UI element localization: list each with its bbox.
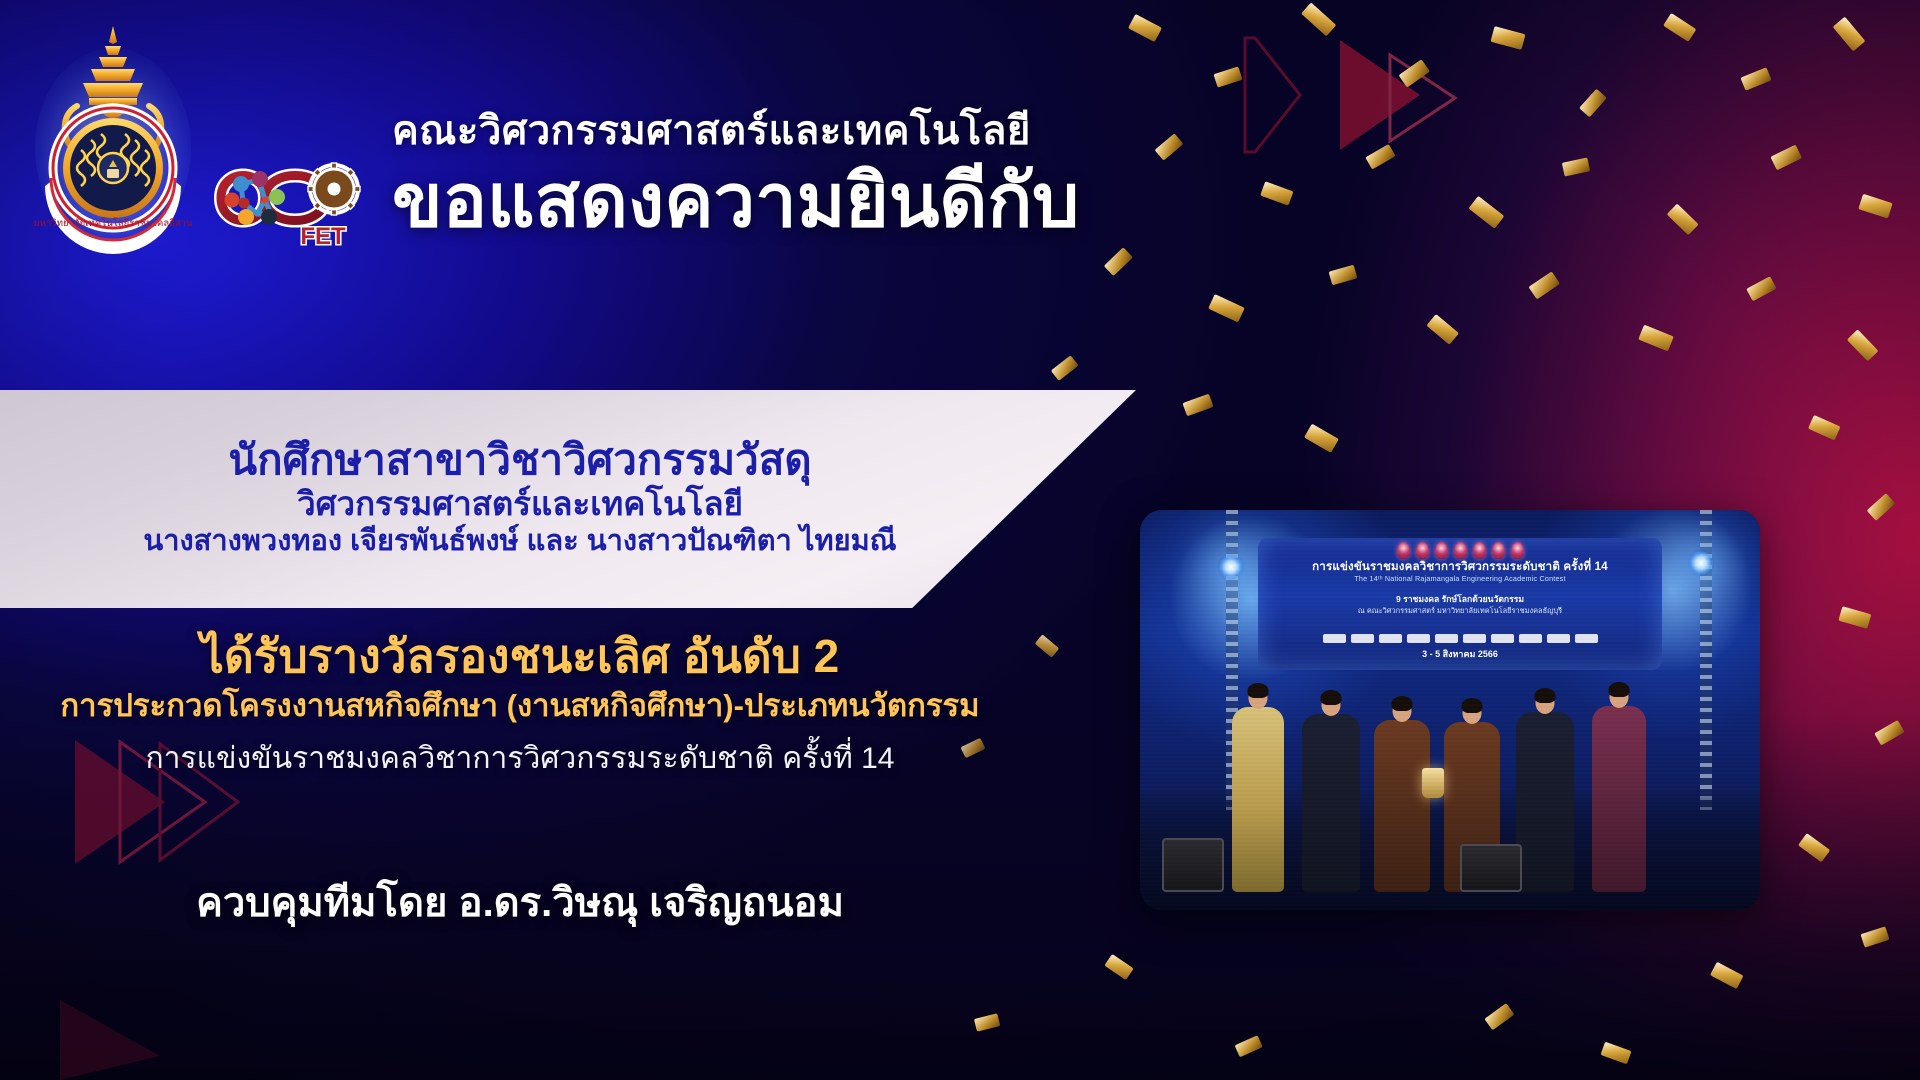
award-block: ได้รับรางวัลรองชนะเลิศ อันดับ 2 การประกว… <box>0 630 1100 777</box>
student-panel-content: นักศึกษาสาขาวิชาวิศวกรรมวัสดุ วิศวกรรมศา… <box>0 392 1050 606</box>
rmuti-ribbon-text: มหาวิทยาลัยเทคโนโลยีราชมงคลอีสาน <box>34 217 193 229</box>
header-block: คณะวิศวกรรมศาสตร์และเทคโนโลยี ขอแสดงความ… <box>392 108 1372 241</box>
fet-logo: FET <box>203 140 388 260</box>
award-ceremony-photo: การแข่งขันราชมงคลวิชาการวิศวกรรมระดับชาต… <box>1140 510 1760 910</box>
rmuti-emblem-logo: มหาวิทยาลัยเทคโนโลยีราชมงคลอีสาน <box>33 20 193 255</box>
photo-grain-overlay <box>1140 510 1760 910</box>
student-program-line: นักศึกษาสาขาวิชาวิศวกรรมวัสดุ <box>228 436 811 483</box>
award-event: การแข่งขันราชมงคลวิชาการวิศวกรรมระดับชาต… <box>146 741 895 777</box>
fet-logo-label: FET <box>300 223 346 250</box>
award-advisor: ควบคุมทีมโดย อ.ดร.วิษณุ เจริญถนอม <box>0 880 1100 926</box>
faculty-line: คณะวิศวกรรมศาสตร์และเทคโนโลยี <box>392 108 1372 154</box>
page-title: ขอแสดงความยินดีกับ <box>392 160 1372 241</box>
student-faculty-line: วิศวกรรมศาสตร์และเทคโนโลยี <box>297 485 743 523</box>
award-category: การประกวดโครงงานสหกิจศึกษา (งานสหกิจศึกษ… <box>60 688 979 725</box>
banner-canvas: มหาวิทยาลัยเทคโนโลยีราชมงคลอีสาน <box>0 0 1920 1080</box>
student-names-line: นางสางพวงทอง เจียรพันธ์พงษ์ และ นางสาวปั… <box>143 525 896 559</box>
award-prize: ได้รับรางวัลรองชนะเลิศ อันดับ 2 <box>201 630 840 682</box>
